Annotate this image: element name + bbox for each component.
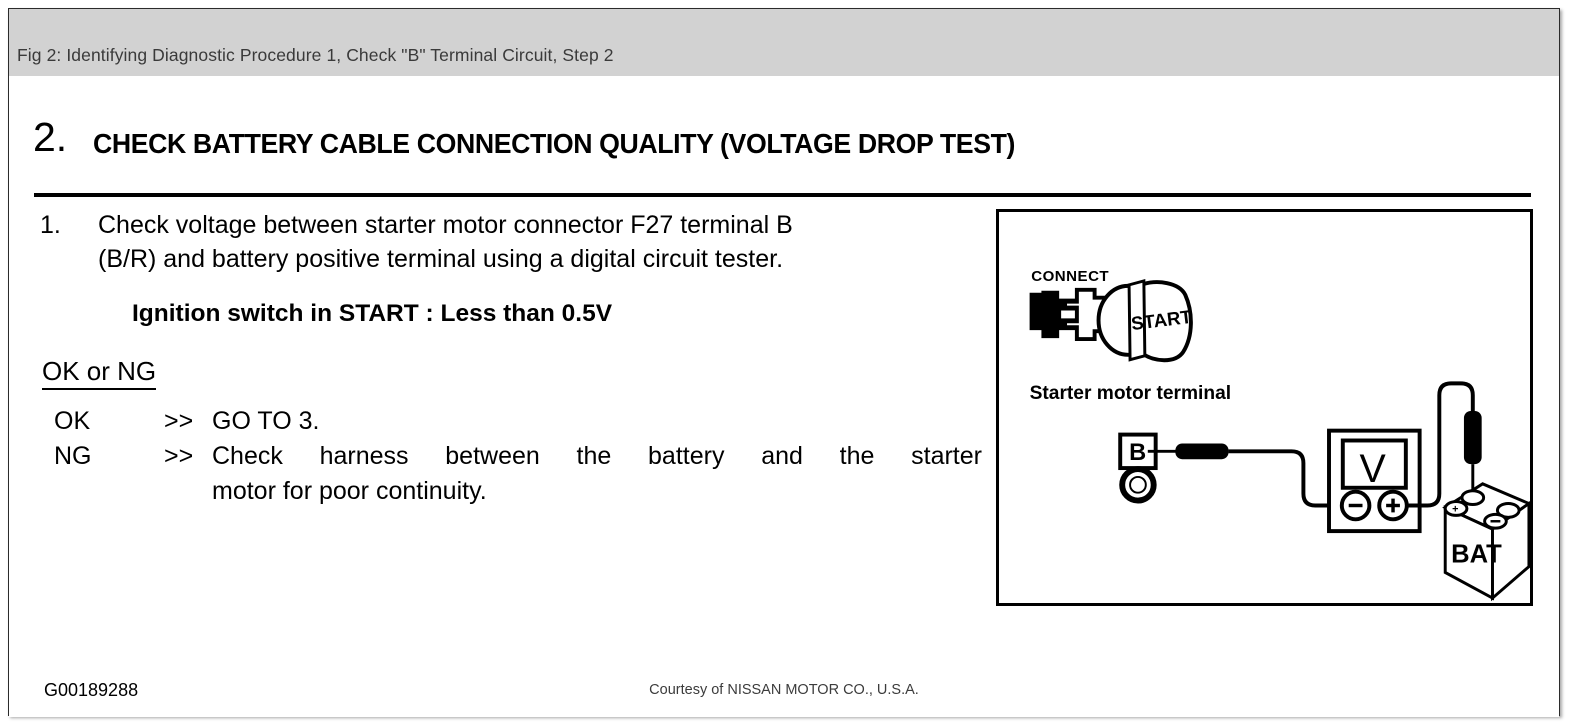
terminal-b-letter: B [1129,440,1146,466]
instruction-body: Check voltage between starter motor conn… [98,208,988,276]
result-key-ng: NG [54,439,92,474]
result-value-ng-line-2: motor for poor continuity. [212,474,487,509]
voltmeter-letter: V [1360,447,1387,491]
battery-positive-sign: + [1452,503,1458,515]
diagram-panel: CONNECT START St [996,209,1533,606]
section-heading: 2. CHECK BATTERY CABLE CONNECTION QUALIT… [33,119,1533,177]
page-title: CHECK BATTERY CABLE CONNECTION QUALITY (… [93,128,1015,160]
voltage-drop-test-diagram: CONNECT START St [999,212,1530,603]
instruction-line-2: (B/R) and battery positive terminal usin… [98,242,988,276]
voltmeter-symbol: V [1329,431,1420,531]
figure-caption: Fig 2: Identifying Diagnostic Procedure … [17,45,614,66]
result-value-ng-line-1: Check harness between the battery and th… [212,439,982,474]
result-row-ng: NG >> Check harness between the battery … [42,439,982,509]
specification-line: Ignition switch in START : Less than 0.5… [132,300,612,328]
instruction-marker: 1. [40,208,61,242]
result-arrow-ok: >> [164,404,193,439]
battery-positive-post [1462,491,1484,505]
terminal-caption: Starter motor terminal [1030,383,1232,404]
ignition-key-start-icon: START [1099,281,1194,360]
step-number: 2. [33,117,67,158]
result-rows: OK >> GO TO 3. NG >> Check harness betwe… [42,404,982,509]
battery-label: BAT [1451,541,1502,569]
figure-viewer-window: Fig 2: Identifying Diagnostic Procedure … [8,8,1560,716]
instruction-column: 1. Check voltage between starter motor c… [34,208,979,280]
result-arrow-ng: >> [164,439,193,474]
caption-bar: Fig 2: Identifying Diagnostic Procedure … [9,9,1559,76]
result-key-ok: OK [54,404,90,439]
connect-label: CONNECT [1031,268,1109,285]
battery-symbol: + BAT [1445,484,1529,598]
document-page: 2. CHECK BATTERY CABLE CONNECTION QUALIT… [9,76,1559,717]
heading-divider [34,193,1531,197]
negative-test-lead [1148,443,1329,505]
footer-credit: Courtesy of NISSAN MOTOR CO., U.S.A. [9,682,1559,698]
instruction-item: 1. Check voltage between starter motor c… [34,208,979,280]
result-row-ok: OK >> GO TO 3. [42,404,982,439]
result-block-title: OK or NG [42,356,156,390]
terminal-b-symbol: B [1120,435,1155,501]
result-value-ok: GO TO 3. [212,404,982,439]
instruction-line-1: Check voltage between starter motor conn… [98,208,988,242]
